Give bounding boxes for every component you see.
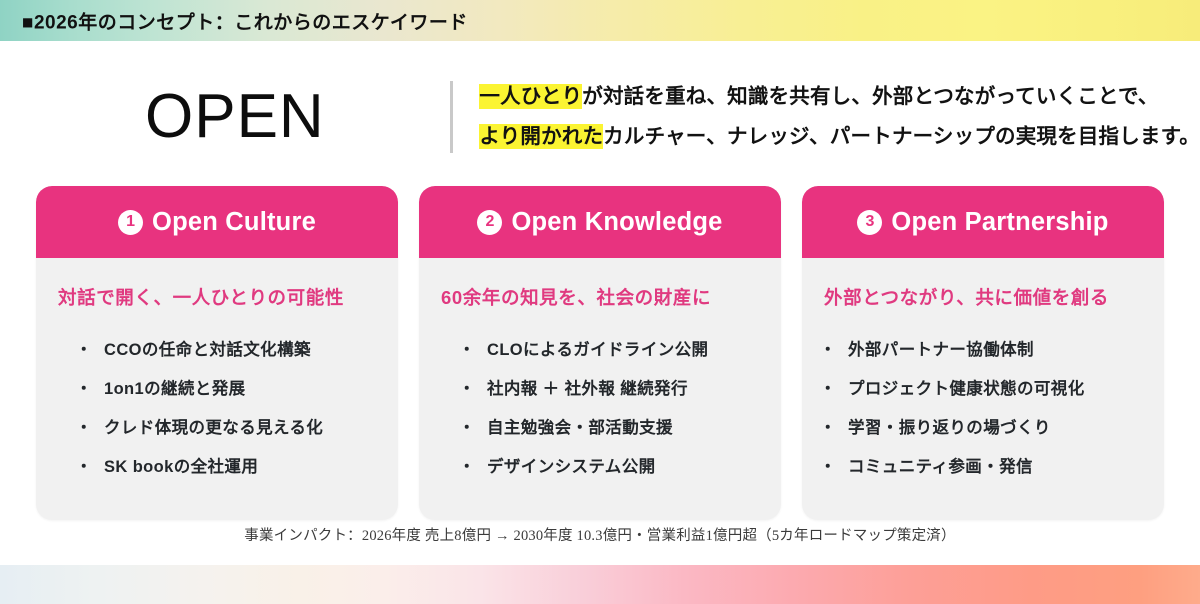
- list-item: ・コミュニティ参画・発信: [802, 453, 1164, 492]
- concept-line2-rest: カルチャー、ナレッジ、パートナーシップの実現を目指します。: [603, 125, 1200, 148]
- bullet-marker-icon: ・: [70, 414, 98, 438]
- list-item: ・外部パートナー協働体制: [802, 336, 1164, 375]
- card-1-subtitle: 対話で開く、一人ひとりの可能性: [36, 258, 398, 310]
- list-item: ・社内報 ＋ 社外報 継続発行: [419, 375, 781, 414]
- slide-title: ■2026年のコンセプト：これからのエスケイワード: [22, 7, 468, 34]
- card-2-subtitle: 60余年の知見を、社会の財産に: [419, 258, 781, 310]
- list-item: ・デザインシステム公開: [419, 453, 781, 492]
- circled-number-3-icon: 3: [857, 210, 882, 235]
- concept-cards: 1 Open Culture 対話で開く、一人ひとりの可能性 ・CCOの任命と対…: [36, 186, 1164, 520]
- bullet-marker-icon: ・: [814, 453, 842, 477]
- bullet-marker-icon: ・: [814, 375, 842, 399]
- card-3-bullet-list: ・外部パートナー協働体制 ・プロジェクト健康状態の可視化 ・学習・振り返りの場づ…: [802, 310, 1164, 520]
- card-1-bullet-list: ・CCOの任命と対話文化構築 ・1on1の継続と発展 ・クレド体現の更なる見える…: [36, 310, 398, 520]
- concept-line1-rest: が対話を重ね、知識を共有し、外部とつながっていくことで、: [582, 85, 1158, 108]
- bottom-gradient-bar: [0, 565, 1200, 604]
- list-item-label: 学習・振り返りの場づくり: [848, 414, 1051, 438]
- concept-keyword: OPEN: [145, 86, 444, 148]
- list-item-label: CLOによるガイドライン公開: [487, 336, 708, 360]
- highlight-phrase-1: 一人ひとり: [479, 84, 582, 109]
- concept-description: 一人ひとりが対話を重ね、知識を共有し、外部とつながっていくことで、 より開かれた…: [479, 77, 1200, 157]
- list-item-label: 外部パートナー協働体制: [848, 336, 1034, 360]
- concept-description-line2: より開かれたカルチャー、ナレッジ、パートナーシップの実現を目指します。: [479, 117, 1200, 157]
- bullet-marker-icon: ・: [453, 375, 481, 399]
- bullet-marker-icon: ・: [453, 336, 481, 360]
- card-open-partnership: 3 Open Partnership 外部とつながり、共に価値を創る ・外部パー…: [802, 186, 1164, 520]
- list-item-label: クレド体現の更なる見える化: [104, 414, 323, 438]
- list-item-label: 社内報 ＋ 社外報 継続発行: [487, 375, 688, 399]
- list-item: ・CCOの任命と対話文化構築: [36, 336, 398, 375]
- bullet-marker-icon: ・: [453, 414, 481, 438]
- list-item: ・SK bookの全社運用: [36, 453, 398, 492]
- card-3-header: 3 Open Partnership: [802, 186, 1164, 258]
- card-3-subtitle: 外部とつながり、共に価値を創る: [802, 258, 1164, 310]
- list-item: ・CLOによるガイドライン公開: [419, 336, 781, 375]
- list-item: ・クレド体現の更なる見える化: [36, 414, 398, 453]
- list-item-label: SK bookの全社運用: [104, 453, 258, 477]
- list-item-label: 自主勉強会・部活動支援: [487, 414, 673, 438]
- bullet-marker-icon: ・: [70, 375, 98, 399]
- circled-number-2-icon: 2: [477, 210, 502, 235]
- bullet-marker-icon: ・: [814, 414, 842, 438]
- card-3-title: Open Partnership: [891, 208, 1108, 237]
- list-item-label: CCOの任命と対話文化構築: [104, 336, 311, 360]
- list-item: ・1on1の継続と発展: [36, 375, 398, 414]
- bullet-marker-icon: ・: [70, 453, 98, 477]
- list-item: ・プロジェクト健康状態の可視化: [802, 375, 1164, 414]
- card-1-title: Open Culture: [152, 208, 316, 237]
- card-2-bullet-list: ・CLOによるガイドライン公開 ・社内報 ＋ 社外報 継続発行 ・自主勉強会・部…: [419, 310, 781, 520]
- vertical-divider: [450, 81, 453, 153]
- list-item-label: プロジェクト健康状態の可視化: [848, 375, 1085, 399]
- top-gradient-bar: ■2026年のコンセプト：これからのエスケイワード: [0, 0, 1200, 41]
- business-impact-note: 事業インパクト：2026年度 売上8億円 → 2030年度 10.3億円・営業利…: [0, 524, 1200, 545]
- list-item-label: デザインシステム公開: [487, 453, 656, 477]
- list-item: ・自主勉強会・部活動支援: [419, 414, 781, 453]
- bullet-marker-icon: ・: [70, 336, 98, 360]
- list-item-label: コミュニティ参画・発信: [848, 453, 1033, 477]
- slide-canvas: ■2026年のコンセプト：これからのエスケイワード OPEN 一人ひとりが対話を…: [0, 0, 1200, 604]
- bullet-marker-icon: ・: [814, 336, 842, 360]
- list-item: ・学習・振り返りの場づくり: [802, 414, 1164, 453]
- card-2-header: 2 Open Knowledge: [419, 186, 781, 258]
- list-item-label: 1on1の継続と発展: [104, 375, 246, 399]
- card-open-knowledge: 2 Open Knowledge 60余年の知見を、社会の財産に ・CLOによる…: [419, 186, 781, 520]
- circled-number-1-icon: 1: [118, 210, 143, 235]
- highlight-phrase-2: より開かれた: [479, 124, 603, 149]
- card-2-title: Open Knowledge: [511, 208, 722, 237]
- bullet-marker-icon: ・: [453, 453, 481, 477]
- concept-description-line1: 一人ひとりが対話を重ね、知識を共有し、外部とつながっていくことで、: [479, 77, 1200, 117]
- card-open-culture: 1 Open Culture 対話で開く、一人ひとりの可能性 ・CCOの任命と対…: [36, 186, 398, 520]
- card-1-header: 1 Open Culture: [36, 186, 398, 258]
- hero-section: OPEN 一人ひとりが対話を重ね、知識を共有し、外部とつながっていくことで、 よ…: [0, 62, 1200, 172]
